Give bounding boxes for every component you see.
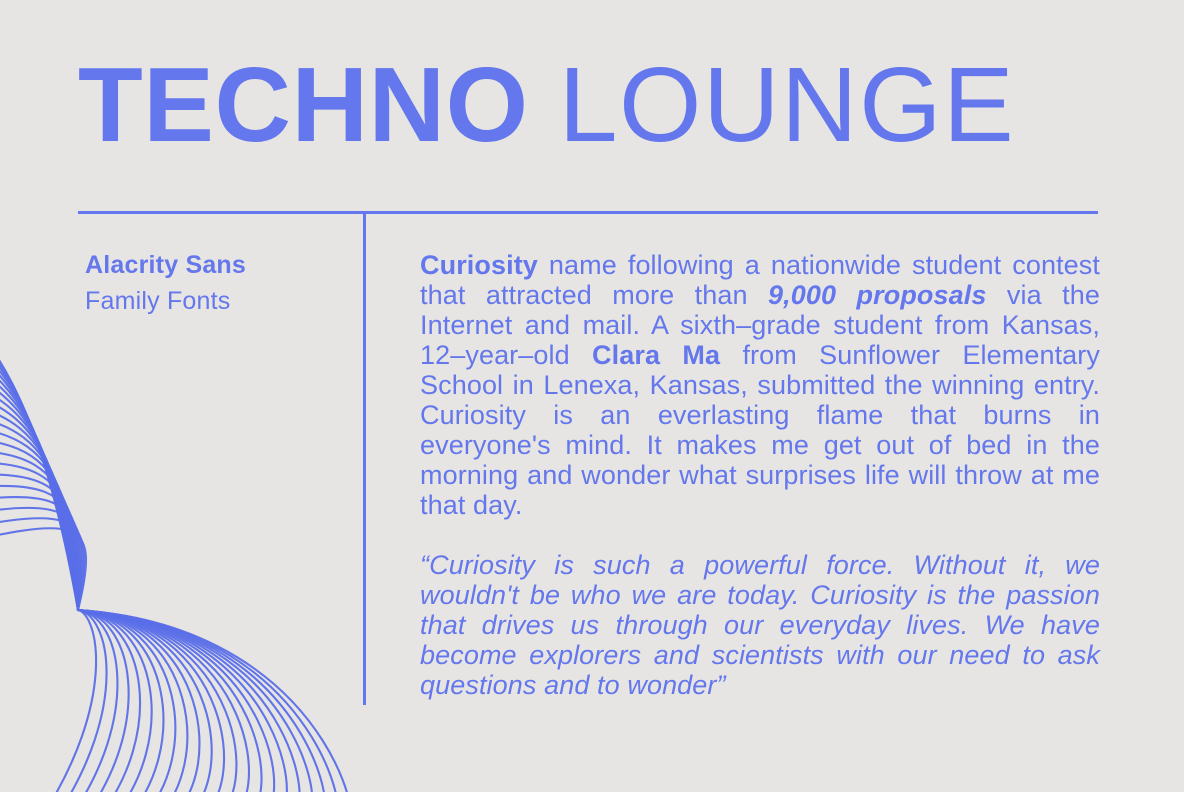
vertical-divider [363,212,366,705]
specimen-paragraph: Curiosity name following a nationwide st… [420,250,1100,520]
poster-title: TECHNO LOUNGE [78,52,1102,182]
font-family-subtitle: Family Fonts [85,285,335,317]
paragraph-emphasis-proposals: 9,000 proposals [768,280,986,310]
title-word-bold: TECHNO [78,52,529,158]
font-family-name: Alacrity Sans [85,250,335,281]
paragraph-lead-bold: Curiosity [420,250,538,280]
swirl-line-art-icon [0,300,360,792]
horizontal-divider [78,211,1098,214]
specimen-quote: “Curiosity is such a powerful force. Wit… [420,550,1100,700]
specimen-text-column: Curiosity name following a nationwide st… [420,250,1100,700]
poster-canvas: TECHNO LOUNGE Alacrity Sans Family Fonts… [0,0,1184,792]
font-family-block: Alacrity Sans Family Fonts [85,250,335,317]
paragraph-name-clara-ma: Clara Ma [592,340,720,370]
title-word-light: LOUNGE [559,52,1016,158]
